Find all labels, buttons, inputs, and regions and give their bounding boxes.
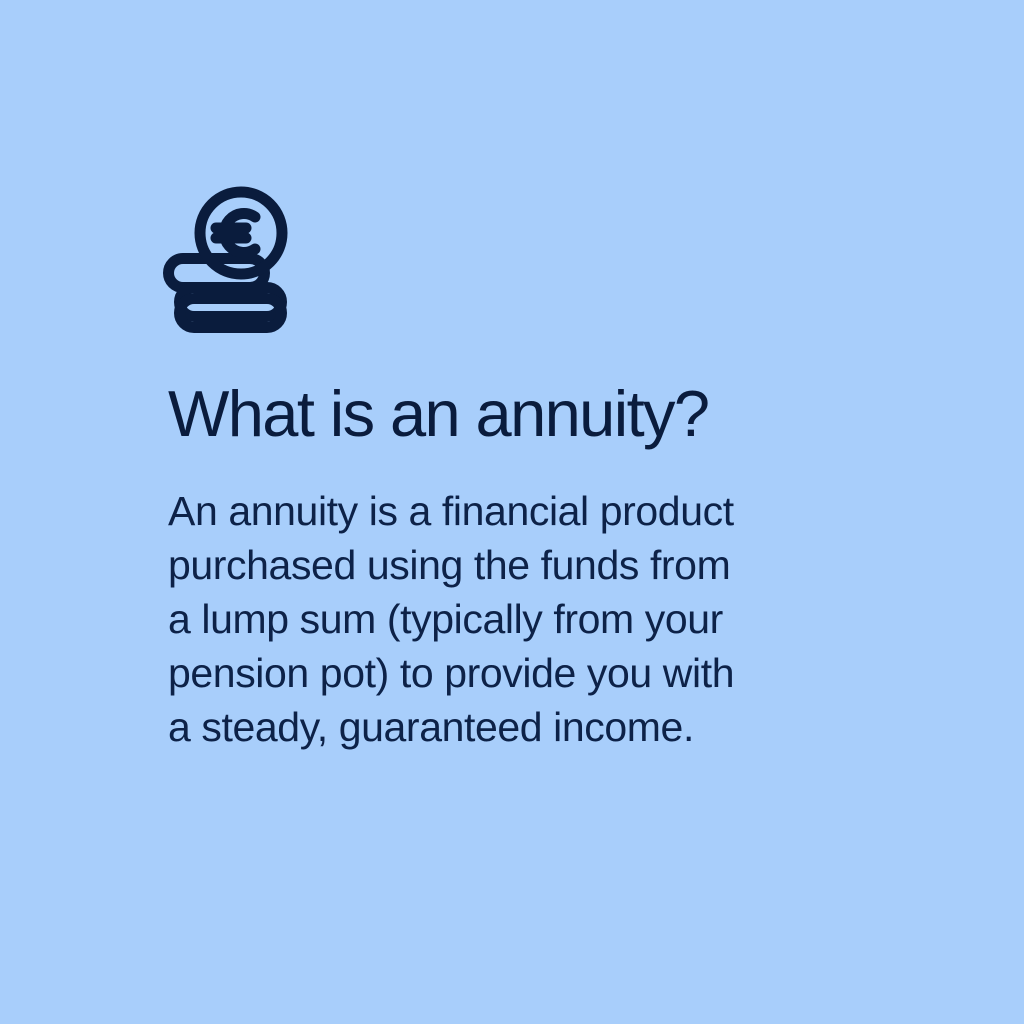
page-title: What is an annuity? <box>168 380 898 448</box>
card-content: What is an annuity? An annuity is a fina… <box>168 186 898 754</box>
body-line: pension pot) to provide you with <box>168 646 868 700</box>
info-card: What is an annuity? An annuity is a fina… <box>0 0 1024 1024</box>
body-line: a steady, guaranteed income. <box>168 700 868 754</box>
body-line: purchased using the funds from <box>168 538 868 592</box>
body-line: a lump sum (typically from your <box>168 592 868 646</box>
body-line: An annuity is a financial product <box>168 484 868 538</box>
card-body-text: An annuity is a financial product purcha… <box>168 484 868 754</box>
euro-coins-icon <box>162 186 290 334</box>
